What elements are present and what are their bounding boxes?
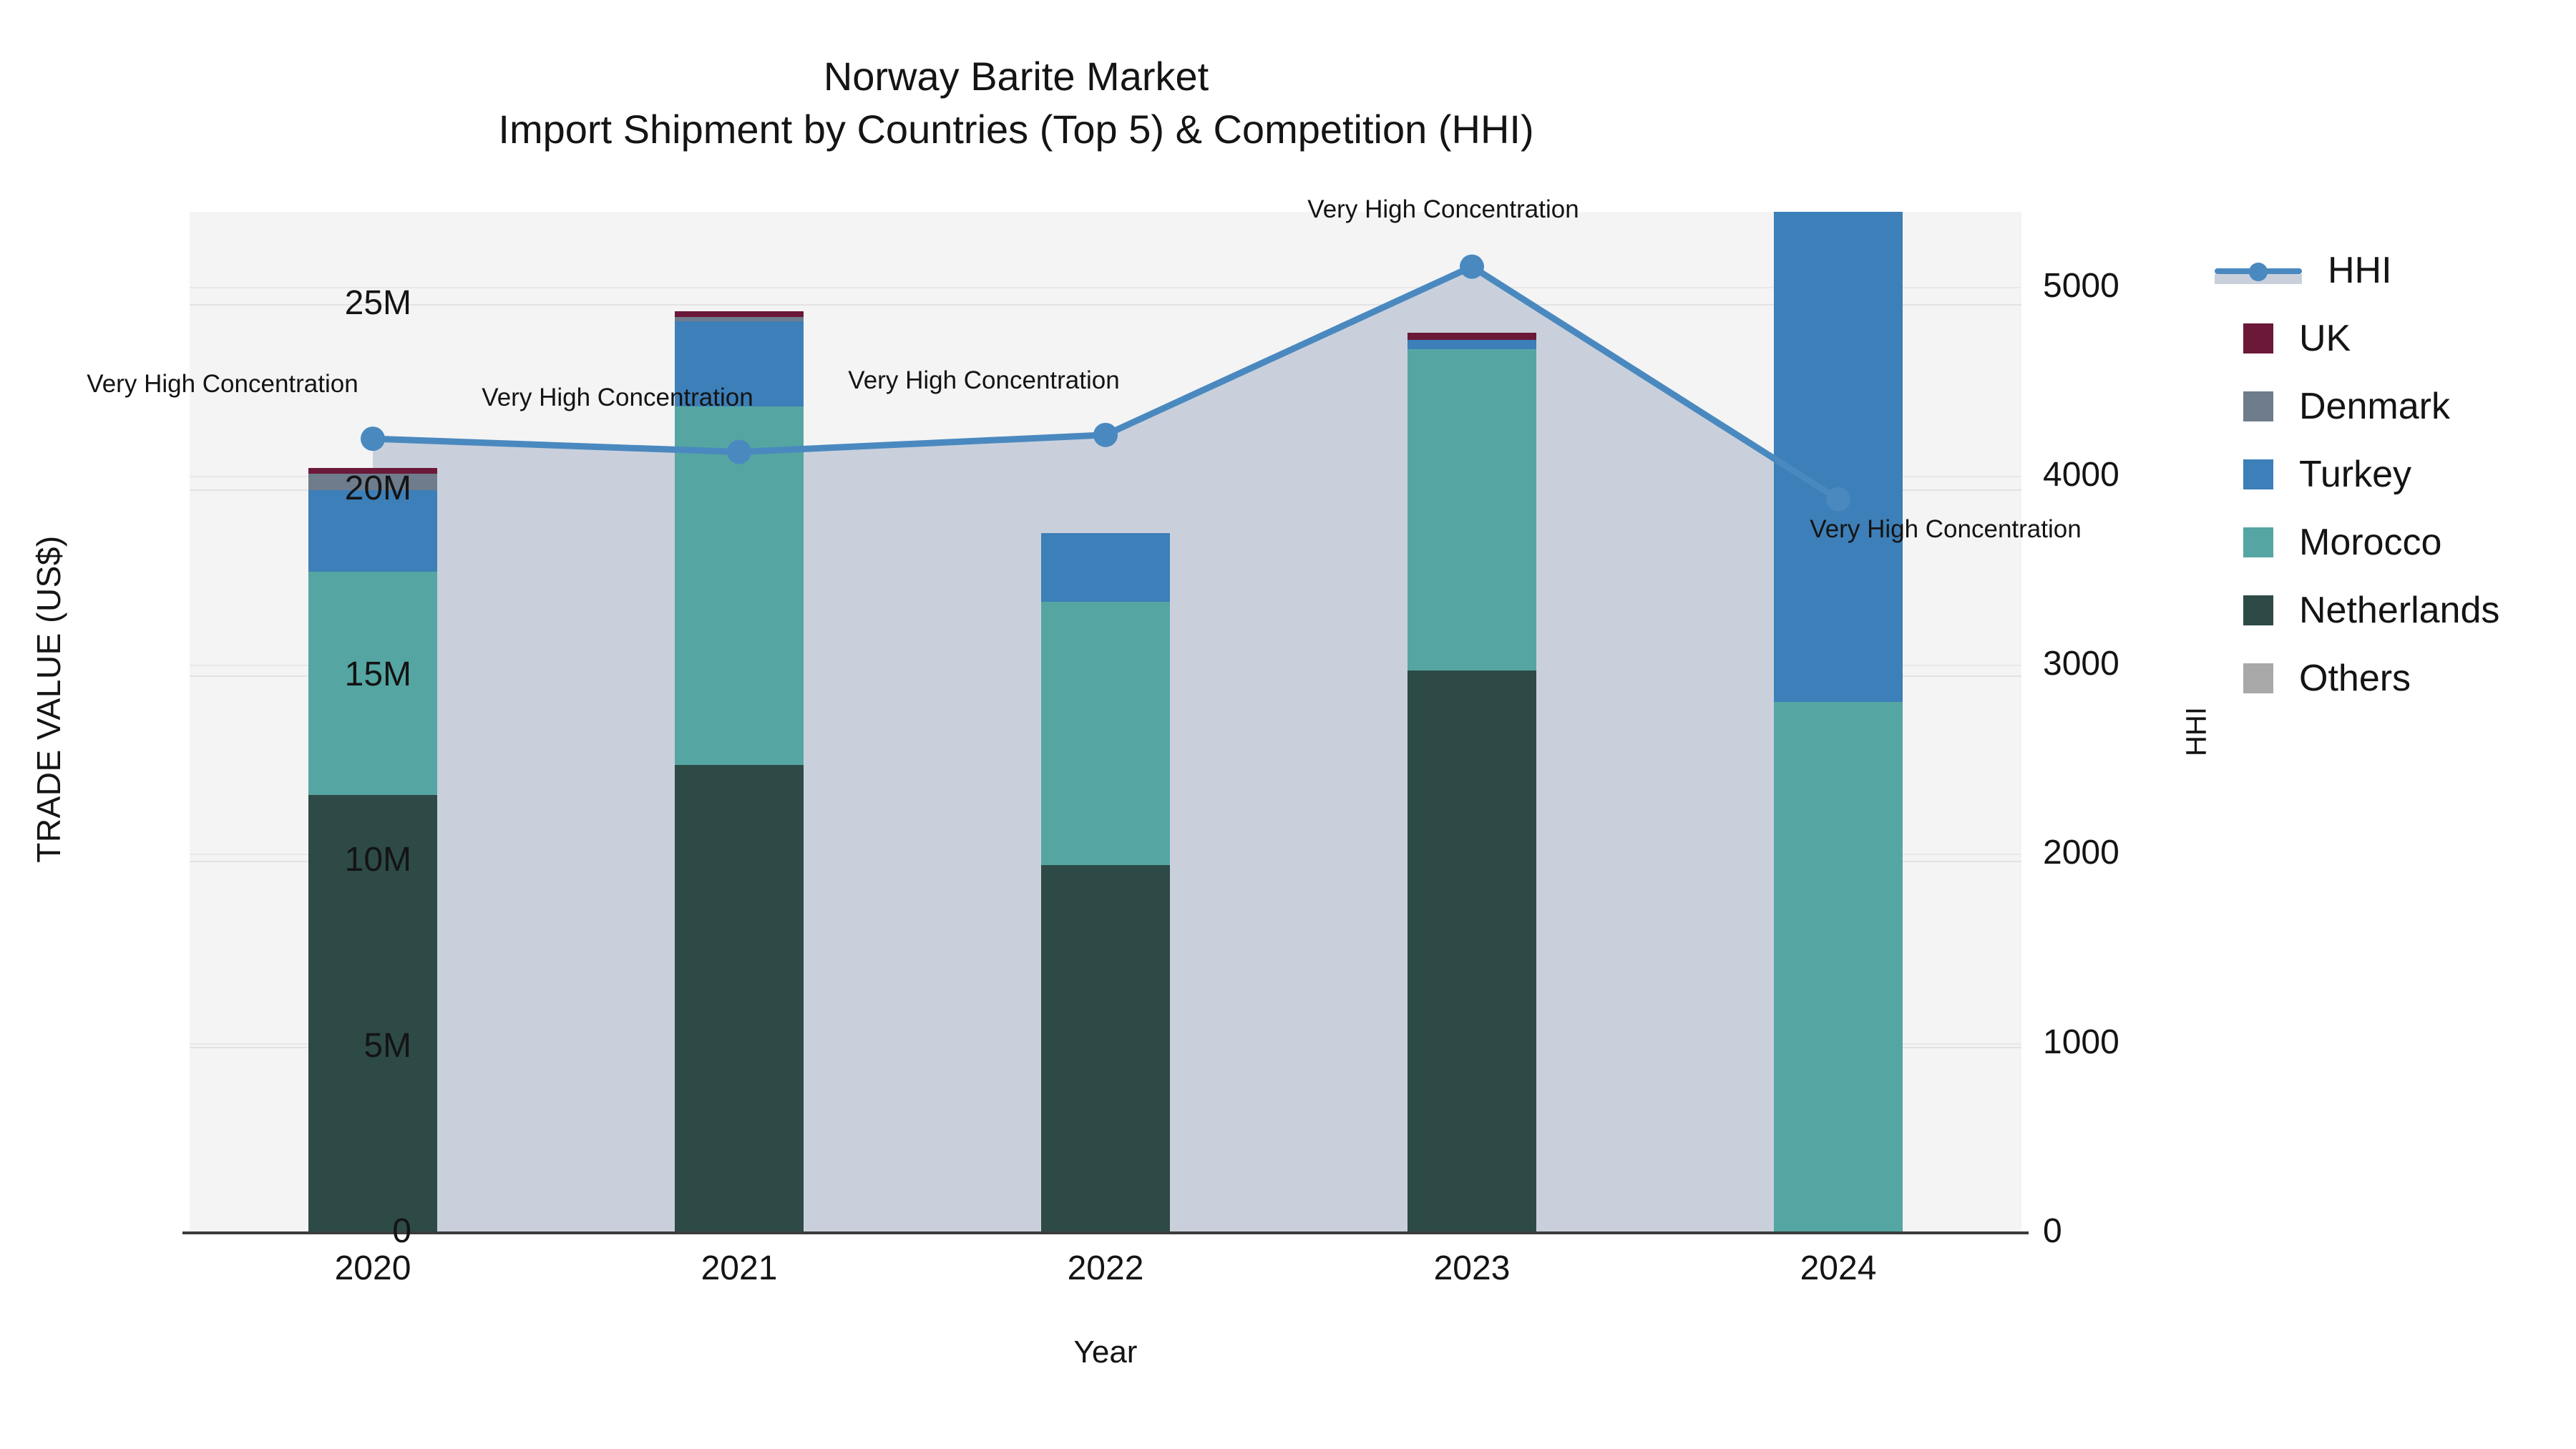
legend-label-morocco: Morocco [2299,524,2441,561]
legend-swatch-turkey [2243,459,2273,489]
x-tick-2020: 2020 [265,1249,480,1288]
hhi-line-series [190,212,2021,1233]
y-tick-left-25M: 25M [197,283,411,323]
x-axis-line [182,1231,2029,1234]
legend-item-denmark[interactable]: Denmark [2215,372,2576,440]
legend-line-icon [2215,255,2302,286]
legend-item-uk[interactable]: UK [2215,304,2576,372]
legend-swatch-others [2243,663,2273,693]
legend-swatch-morocco [2243,527,2273,557]
y-tick-left-20M: 20M [197,469,411,508]
legend-swatch-netherlands [2243,595,2273,625]
y-tick-left-15M: 15M [197,655,411,694]
x-tick-2024: 2024 [1731,1249,1946,1288]
x-tick-2022: 2022 [998,1249,1213,1288]
annotation-2020: Very High Concentration [87,370,358,399]
hhi-marker-2023[interactable] [1460,255,1484,279]
hhi-marker-2021[interactable] [727,440,751,464]
annotation-2022: Very High Concentration [848,366,1119,395]
legend-label-uk: UK [2299,320,2351,357]
y-axis-left-label: TRADE VALUE (US$) [29,484,68,914]
legend-swatch-denmark [2243,391,2273,421]
legend: HHIUKDenmarkTurkeyMoroccoNetherlandsOthe… [2215,236,2576,712]
y-tick-left-10M: 10M [197,840,411,879]
chart-subtitle: Import Shipment by Countries (Top 5) & C… [0,103,2032,156]
chart-title: Norway Barite Market [0,50,2032,103]
legend-label-turkey: Turkey [2299,456,2411,493]
legend-label-hhi: HHI [2328,252,2392,289]
y-tick-left-5M: 5M [197,1026,411,1065]
legend-line-dot [2249,263,2268,281]
y-tick-left-0: 0 [197,1211,411,1251]
x-tick-2023: 2023 [1365,1249,1579,1288]
legend-item-morocco[interactable]: Morocco [2215,508,2576,576]
legend-item-hhi[interactable]: HHI [2215,236,2576,304]
hhi-marker-2020[interactable] [361,426,385,451]
legend-label-netherlands: Netherlands [2299,592,2499,629]
legend-item-others[interactable]: Others [2215,644,2576,712]
chart-title-block: Norway Barite Market Import Shipment by … [0,50,2032,156]
annotation-2024: Very High Concentration [1810,515,2081,544]
hhi-marker-2022[interactable] [1093,423,1118,447]
legend-item-turkey[interactable]: Turkey [2215,440,2576,508]
annotation-2023: Very High Concentration [1307,195,1579,224]
plot-area: Very High ConcentrationVery High Concent… [190,212,2021,1233]
annotation-2021: Very High Concentration [482,384,753,412]
x-axis-label: Year [190,1335,2021,1370]
legend-label-denmark: Denmark [2299,388,2450,425]
y-tick-right-0: 0 [2043,1211,2258,1251]
chart-canvas: Norway Barite Market Import Shipment by … [0,0,2576,1449]
legend-swatch-uk [2243,323,2273,353]
y-tick-right-1000: 1000 [2043,1023,2258,1062]
y-tick-right-2000: 2000 [2043,833,2258,872]
legend-item-netherlands[interactable]: Netherlands [2215,576,2576,644]
x-tick-2021: 2021 [632,1249,847,1288]
hhi-marker-2024[interactable] [1826,487,1850,512]
legend-label-others: Others [2299,660,2411,697]
